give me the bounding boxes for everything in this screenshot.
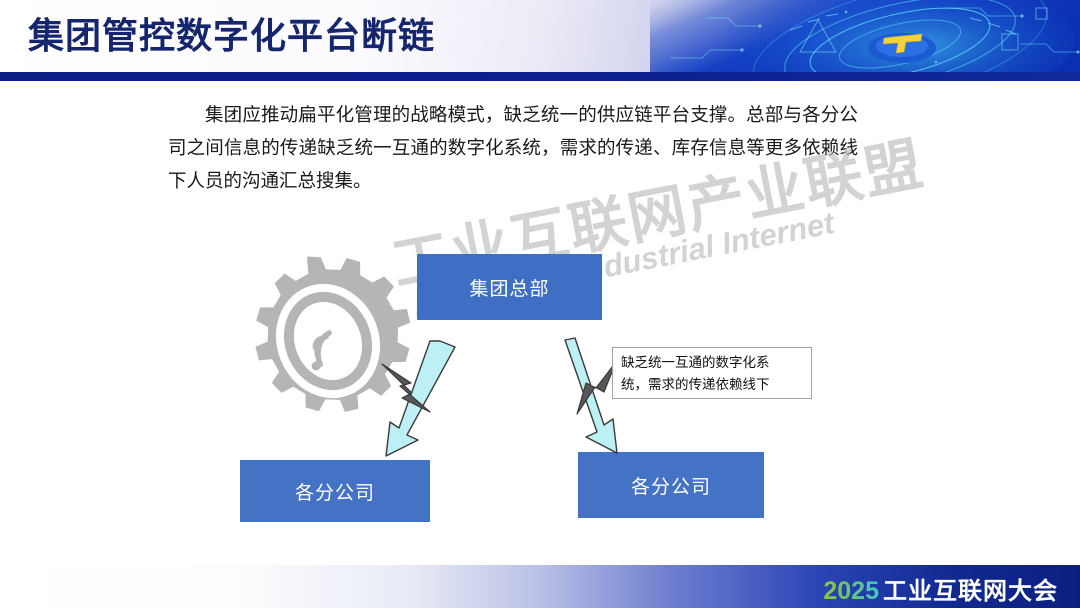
callout-line-1: 缺乏统一互通的数字化系	[621, 352, 805, 374]
right-break-bolt	[577, 362, 616, 414]
branch-box-right[interactable]: 各分公司	[578, 452, 764, 518]
hq-box-label: 集团总部	[469, 274, 549, 301]
page-title: 集团管控数字化平台断链	[28, 9, 435, 63]
slide-header: 集团管控数字化平台断链	[0, 0, 1080, 72]
logo-year: 2025	[823, 577, 879, 606]
branch-box-left-label: 各分公司	[295, 478, 375, 505]
branch-box-left[interactable]: 各分公司	[240, 460, 430, 522]
hq-box[interactable]: 集团总部	[417, 254, 602, 320]
logo-chinese: 工业互联网大会	[883, 571, 1058, 606]
slide-footer: 2025 工业互联网大会 INDUSTRIAL INTERNET CONFERE…	[0, 565, 1080, 608]
broken-link-diagram: 集团总部 各分公司 各分公司 缺乏统一互通的数字化	[0, 228, 1080, 548]
right-arrow	[565, 338, 617, 453]
header-tech-graphic	[650, 0, 1080, 72]
branch-box-right-label: 各分公司	[631, 472, 711, 499]
conference-logo: 2025 工业互联网大会 INDUSTRIAL INTERNET CONFERE…	[807, 571, 1058, 608]
body-paragraph: 集团应推动扁平化管理的战略模式，缺乏统一的供应链平台支撑。总部与各分公司之间信息…	[168, 98, 858, 197]
gear-wifi-icon	[228, 240, 428, 440]
title-underline-bar	[0, 72, 1080, 81]
callout-line-2: 统，需求的传递依赖线下	[621, 374, 805, 396]
callout-box: 缺乏统一互通的数字化系 统，需求的传递依赖线下	[612, 347, 812, 399]
